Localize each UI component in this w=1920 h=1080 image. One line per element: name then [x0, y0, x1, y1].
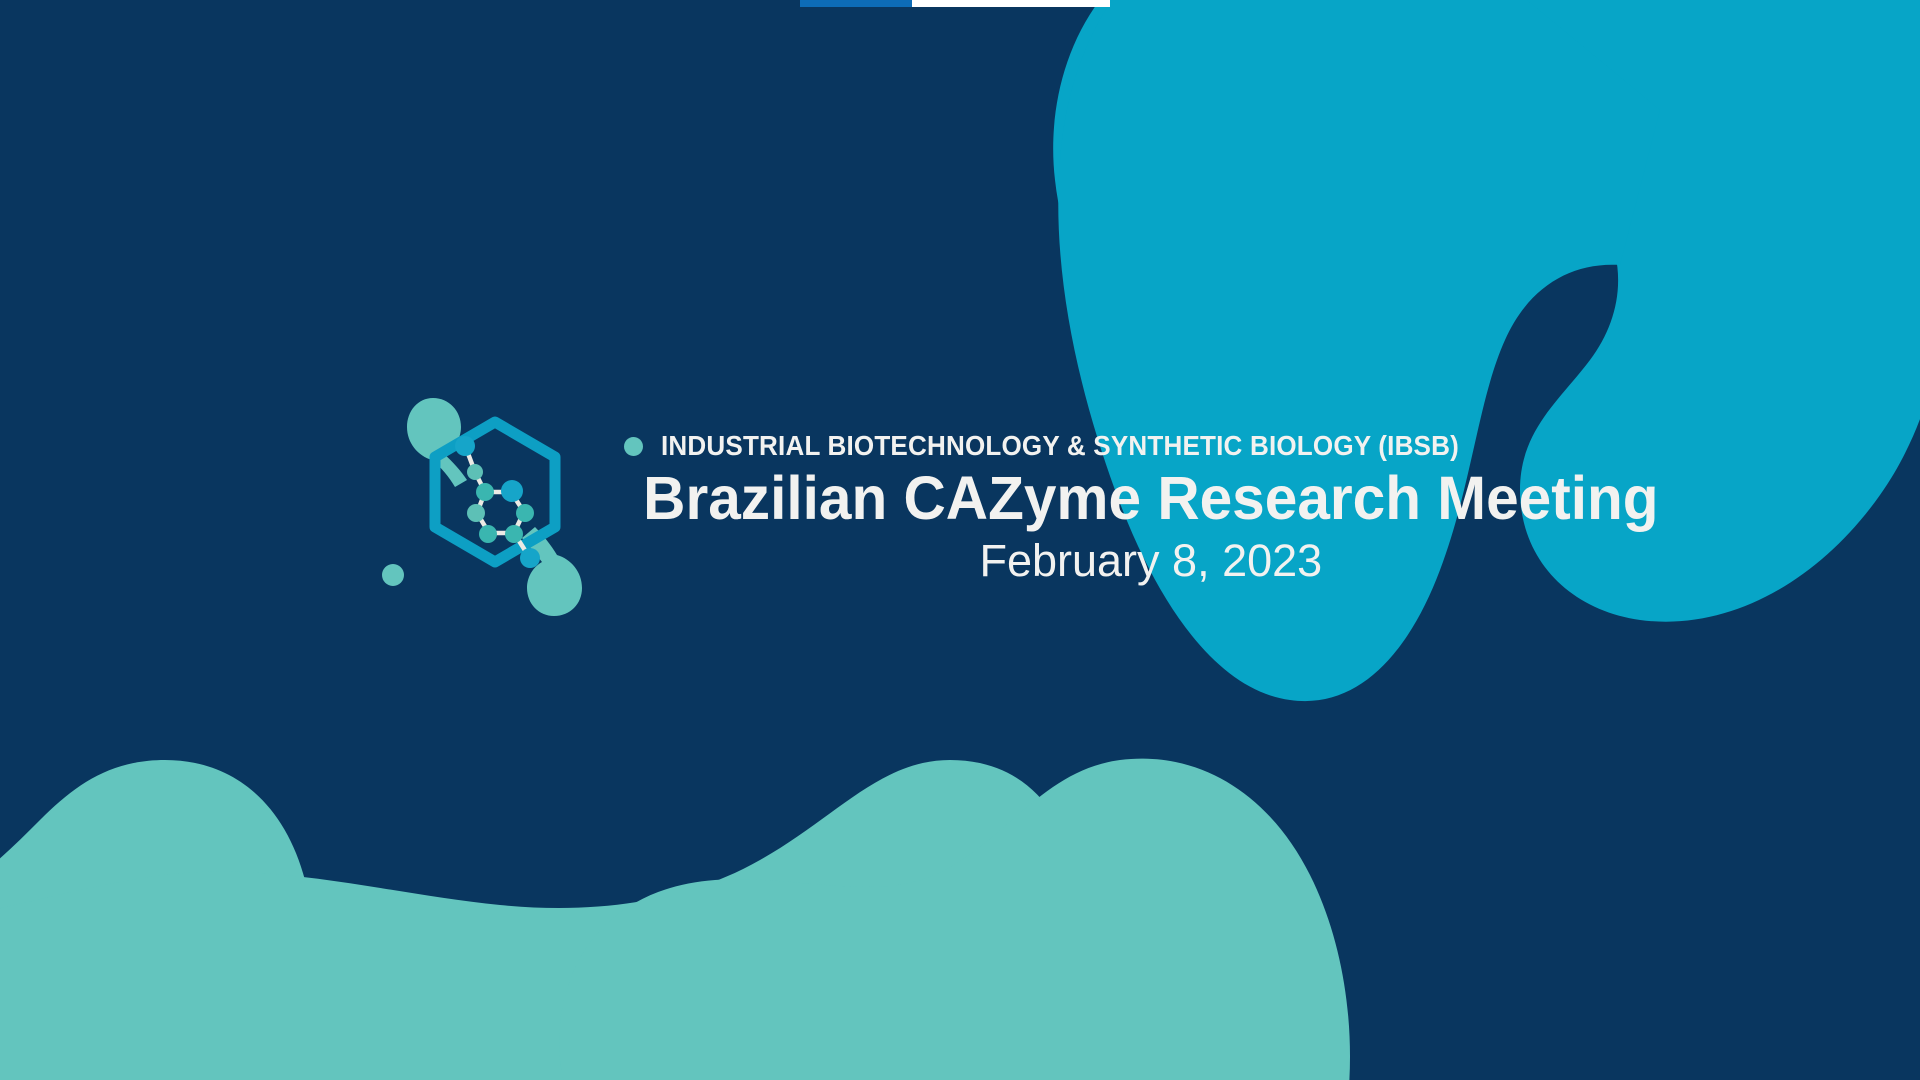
presentation-slide: INDUSTRIAL BIOTECHNOLOGY & SYNTHETIC BIO…: [0, 0, 1920, 1080]
page-title: Brazilian CAZyme Research Meeting: [643, 464, 1658, 532]
molecule-node-teal-b: [476, 483, 494, 501]
molecule-node-cyan-top: [455, 436, 475, 456]
event-date: February 8, 2023: [622, 536, 1680, 586]
presentation-progress-bar[interactable]: [800, 0, 1110, 7]
eyebrow-row: INDUSTRIAL BIOTECHNOLOGY & SYNTHETIC BIO…: [624, 431, 1680, 462]
molecule-node-teal-e: [479, 525, 497, 543]
progress-bar-fill: [800, 0, 912, 7]
eyebrow-text: INDUSTRIAL BIOTECHNOLOGY & SYNTHETIC BIO…: [661, 431, 1459, 462]
title-lockup: INDUSTRIAL BIOTECHNOLOGY & SYNTHETIC BIO…: [395, 392, 1575, 622]
molecule-node-teal-f: [467, 504, 485, 522]
bottom-left-blob-right-lobe: [559, 759, 1350, 1080]
molecule-node-cyan-bottom: [520, 548, 540, 568]
molecule-node-teal-c: [516, 504, 534, 522]
hexagon-molecule-icon: [395, 392, 600, 622]
bottom-left-blob-bridge: [0, 760, 1190, 1080]
eyebrow-bullet-dot: [624, 437, 643, 456]
molecule-node-teal-a: [467, 464, 483, 480]
molecule-node-teal-d: [505, 525, 523, 543]
accent-dot-left: [382, 564, 404, 586]
title-text-block: INDUSTRIAL BIOTECHNOLOGY & SYNTHETIC BIO…: [622, 427, 1680, 587]
ibsb-logo-icon: [395, 392, 600, 622]
molecule-node-cyan-ring: [501, 480, 523, 502]
bottom-left-metaball-blob: [0, 760, 450, 1080]
